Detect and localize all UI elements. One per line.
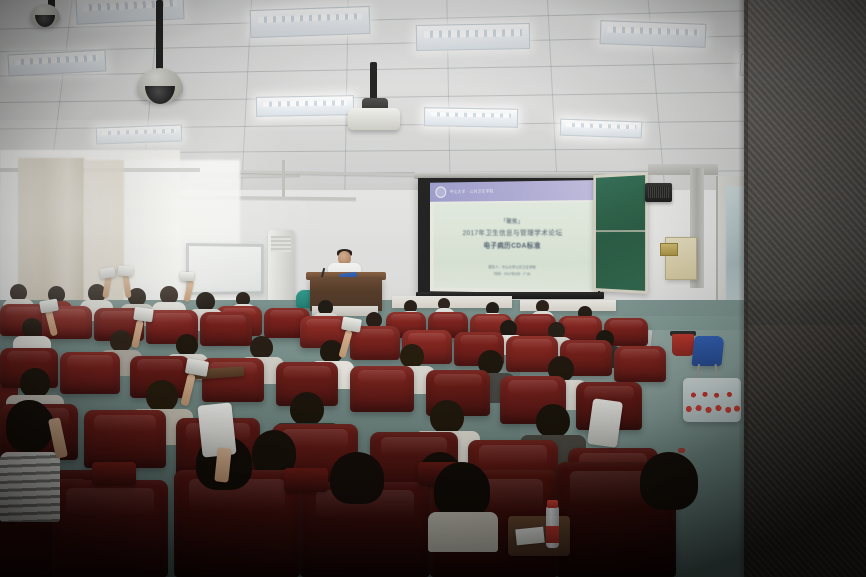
person-head	[434, 462, 490, 518]
ceiling-light-fixture	[256, 95, 354, 117]
ceiling-light-fixture	[250, 6, 371, 38]
ceiling-light-fixture	[424, 107, 518, 128]
wall-speaker	[645, 183, 672, 202]
acoustic-mesh-panel	[744, 325, 866, 577]
water-bottle-cap	[547, 500, 558, 508]
slide-footer-line: 报告人：中山大学公共卫生学院	[488, 265, 535, 270]
air-conditioner-vent	[271, 236, 291, 252]
auditorium-seat	[84, 410, 166, 468]
slide-sub-line: 电子病历CDA标准	[483, 241, 540, 251]
smartphone[interactable]	[180, 272, 194, 281]
conduit-drop	[282, 160, 285, 198]
person-head	[290, 392, 324, 426]
seat-armrest	[284, 468, 328, 492]
speaker-grill	[648, 187, 669, 198]
seat-armrest	[92, 462, 136, 486]
camera-mount-pole	[156, 0, 163, 72]
smartphone[interactable]	[118, 265, 134, 277]
ceiling-projector	[348, 108, 400, 130]
screen-surface: 中山大学 · 公共卫生学院 「聚焦」 2017年卫生信息与管理学术论坛 电子病历…	[430, 180, 598, 294]
slide-header-band: 中山大学 · 公共卫生学院	[430, 180, 598, 202]
ceiling-light-fixture	[7, 49, 106, 76]
ceiling-light-fixture	[96, 125, 183, 145]
person-head	[22, 318, 42, 338]
person-torso	[0, 452, 60, 522]
auditorium-seat	[614, 346, 666, 382]
person-head	[6, 400, 52, 452]
smartphone[interactable]	[133, 307, 154, 323]
ceiling-light-fixture	[560, 119, 643, 139]
person-head	[176, 334, 198, 356]
dome-security-camera	[137, 68, 183, 102]
panel-shadow-edge	[738, 0, 748, 577]
slide-footer: 报告人：中山大学公共卫生学院 时间：2017年9月 · 广州	[434, 265, 594, 278]
person-head	[250, 336, 273, 359]
person-head	[640, 452, 698, 510]
auditorium-seat	[52, 480, 168, 577]
person-head	[330, 452, 384, 504]
auditorium-seat	[202, 358, 264, 402]
bottle-caps-row	[683, 400, 741, 418]
slide-footer-line: 时间：2017年9月 · 广州	[494, 272, 530, 277]
dome-security-camera	[30, 4, 60, 26]
curtain	[18, 158, 84, 308]
chalk-rail	[596, 230, 645, 232]
person-head	[430, 400, 464, 434]
person-head	[146, 380, 178, 412]
duct-horizontal	[648, 164, 718, 175]
green-chalkboard	[593, 172, 648, 294]
projection-screen: 中山大学 · 公共卫生学院 「聚焦」 2017年卫生信息与管理学术论坛 电子病历…	[418, 178, 600, 296]
auditorium-seat	[350, 366, 414, 412]
auditorium-seat	[60, 352, 120, 394]
person-head	[536, 404, 570, 438]
ceiling-light-fixture	[600, 20, 707, 48]
floor-debris	[678, 448, 685, 453]
smartphone[interactable]	[587, 398, 623, 448]
bag-of-water-bottles	[683, 378, 741, 422]
slide-main-line: 2017年卫生信息与管理学术论坛	[463, 228, 563, 238]
slide-body: 「聚焦」 2017年卫生信息与管理学术论坛 电子病历CDA标准 报告人：中山大学…	[434, 202, 594, 290]
blue-folding-chair	[691, 336, 724, 366]
control-panel-display	[660, 243, 678, 256]
ceiling-light-fixture	[416, 23, 530, 51]
red-bucket	[672, 334, 694, 356]
smartphone[interactable]	[99, 267, 115, 279]
projector-mount-pole	[370, 62, 377, 102]
front-table	[520, 300, 616, 311]
person-head	[110, 330, 132, 352]
auditorium-seat	[200, 312, 252, 346]
handout-papers	[515, 527, 545, 546]
person-head	[400, 344, 424, 368]
lecture-hall-photograph: 中山大学 · 公共卫生学院 「聚焦」 2017年卫生信息与管理学术论坛 电子病历…	[0, 0, 866, 577]
slide-institution-text: 中山大学 · 公共卫生学院	[450, 189, 494, 195]
person-torso	[428, 512, 498, 552]
whiteboard	[186, 243, 264, 295]
ceiling-light-fixture	[75, 0, 184, 25]
camera-lens	[35, 15, 55, 27]
acoustic-mesh-panel	[744, 0, 866, 330]
person-head	[20, 368, 50, 398]
slide-title-quoted: 「聚焦」	[501, 216, 524, 225]
water-bottle-label	[546, 526, 559, 543]
university-logo-icon	[435, 186, 446, 198]
